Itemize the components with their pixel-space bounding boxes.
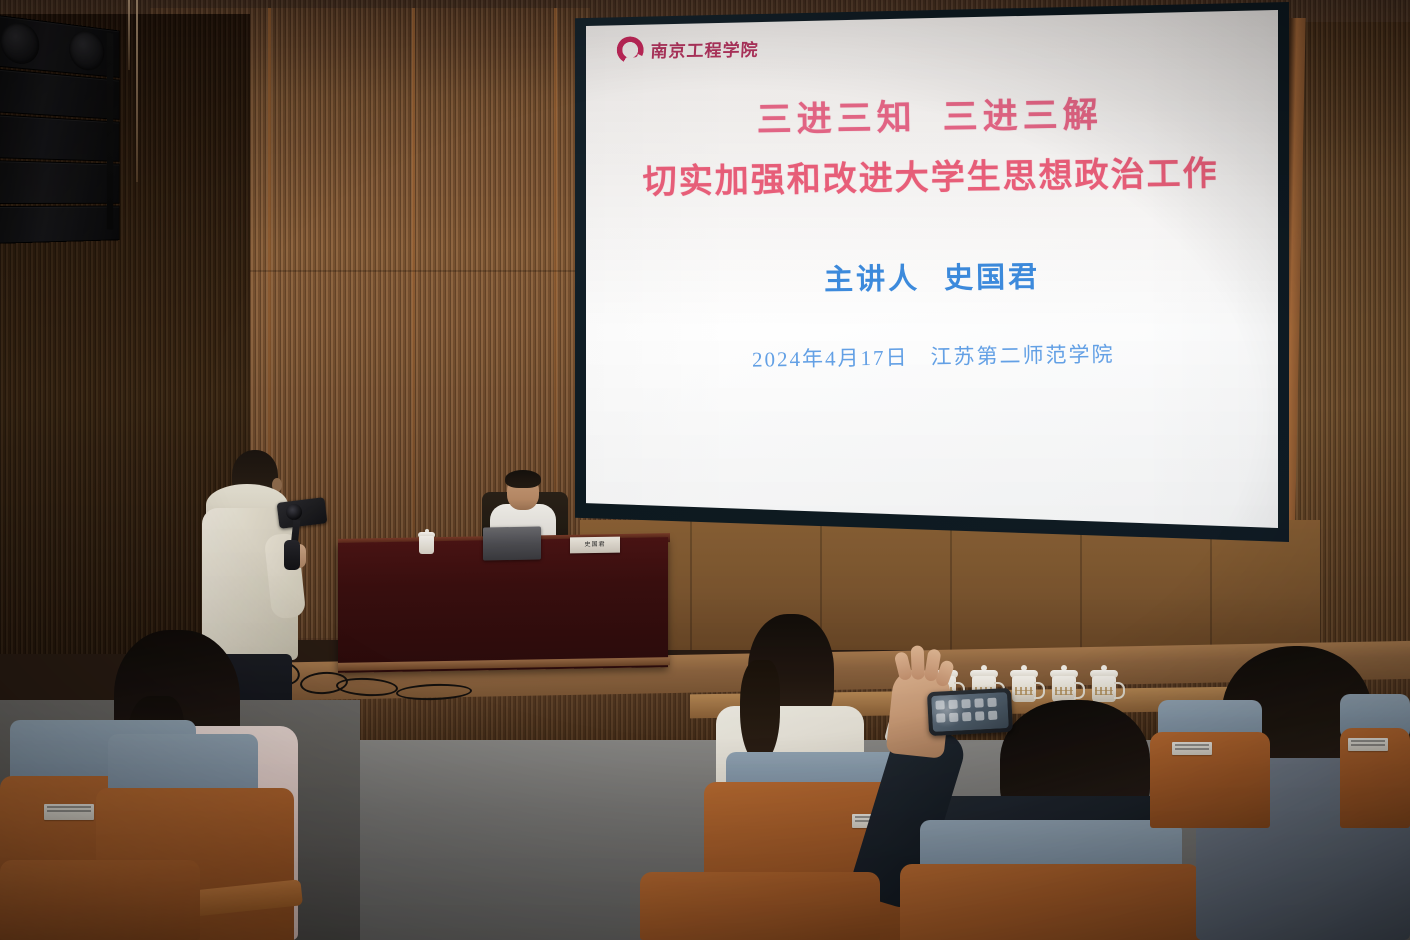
slide-date: 2024年4月17日 bbox=[752, 345, 909, 371]
slide-speaker-name: 史国君 bbox=[944, 261, 1040, 294]
slide-title-part-b: 三进三解 bbox=[942, 95, 1103, 136]
presenter-glasses-icon bbox=[509, 485, 537, 492]
auditorium-seat[interactable] bbox=[900, 820, 1200, 940]
presenter-nameplate: 史国君 bbox=[570, 537, 620, 554]
slide-logo: 南京工程学院 bbox=[617, 35, 759, 64]
slide-date-line: 2024年4月17日江苏第二师范学院 bbox=[587, 336, 1278, 376]
teacup bbox=[1050, 668, 1080, 702]
speaker-suspension-cable bbox=[128, 0, 130, 70]
slide-title-line-2: 切实加强和改进大学生思想政治工作 bbox=[586, 145, 1277, 204]
lecture-hall-photo: 南京工程学院 三进三知三进三解 切实加强和改进大学生思想政治工作 主讲人史国君 … bbox=[0, 0, 1410, 940]
camera-gimbal-grip bbox=[284, 540, 300, 570]
camera-lens-icon bbox=[286, 504, 302, 520]
slide-speaker-line: 主讲人史国君 bbox=[586, 250, 1278, 302]
slide-logo-text: 南京工程学院 bbox=[650, 36, 759, 63]
auditorium-seat[interactable] bbox=[1150, 700, 1270, 820]
slide-title-part-a: 三进三知 bbox=[756, 98, 917, 139]
projection-screen: 南京工程学院 三进三知三进三解 切实加强和改进大学生思想政治工作 主讲人史国君 … bbox=[586, 10, 1278, 528]
ceiling-loudspeaker-array bbox=[0, 14, 123, 234]
auditorium-seat[interactable] bbox=[0, 860, 200, 940]
auditorium-seat[interactable] bbox=[640, 872, 880, 940]
slide-content: 三进三知三进三解 切实加强和改进大学生思想政治工作 主讲人史国君 2024年4月… bbox=[586, 91, 1278, 376]
slide-speaker-label: 主讲人 bbox=[824, 263, 920, 296]
wall-below-screen bbox=[580, 520, 1320, 650]
university-emblem-icon bbox=[617, 36, 644, 63]
smartphone[interactable] bbox=[927, 688, 1013, 736]
teacup bbox=[1010, 668, 1040, 702]
presenter-teacup bbox=[418, 530, 436, 554]
speaker-suspension-cable bbox=[136, 0, 138, 182]
slide-title-line-1: 三进三知三进三解 bbox=[586, 91, 1276, 145]
presenter-laptop bbox=[483, 526, 541, 560]
teacup bbox=[1090, 668, 1120, 702]
slide-host-institution: 江苏第二师范学院 bbox=[930, 342, 1114, 369]
smartphone-app-icons bbox=[935, 698, 997, 723]
auditorium-seat[interactable] bbox=[1340, 694, 1410, 824]
